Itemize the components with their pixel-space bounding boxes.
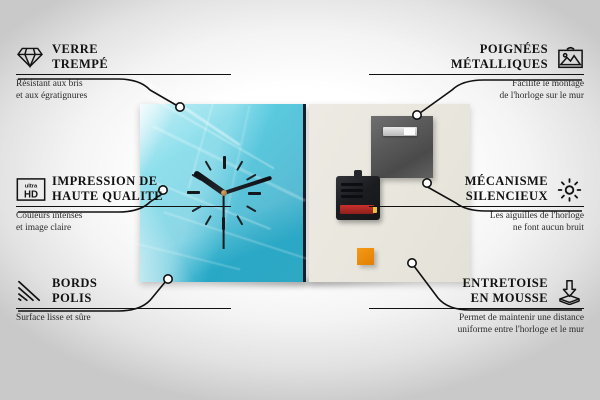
callout-desc: Permet de maintenir une distanceuniforme… [369,313,584,336]
divider [369,74,584,75]
callout-title: ENTRETOISEEN MOUSSE [462,276,548,305]
divider [16,74,231,75]
foam-spacer [357,248,374,265]
divider [369,308,584,309]
mechanism-vents [341,183,363,186]
callout-title: BORDSPOLIS [52,276,97,305]
divider [16,308,231,309]
diamond-icon [16,45,44,69]
callout-entretoise-en-mousse: ENTRETOISEEN MOUSSE Permet de maintenir … [369,276,584,337]
callout-desc: Couleurs intenseset image claire [16,211,231,234]
gear-icon [556,177,584,201]
callout-title: VERRETREMPÉ [52,42,108,71]
framed-picture-hook-icon [556,45,584,69]
divider [16,206,231,207]
callout-poignees-metalliques: POIGNÉESMÉTALLIQUES Facilite le montaged… [369,42,584,103]
callout-impression-haute-qualite: ultra HD IMPRESSION DEHAUTE QUALITÉ Coul… [16,174,231,235]
svg-text:HD: HD [24,189,38,200]
callout-bords-polis: BORDSPOLIS Surface lisse et sûre [16,276,231,325]
callout-title: MÉCANISMESILENCIEUX [465,174,548,203]
ultra-hd-icon: ultra HD [16,177,44,201]
callout-title: POIGNÉESMÉTALLIQUES [451,42,548,71]
polished-edge-icon [16,279,44,303]
arrow-down-pad-icon [556,279,584,303]
callout-desc: Facilite le montagede l'horloge sur le m… [369,79,584,102]
callout-desc: Surface lisse et sûre [16,313,231,325]
divider [369,206,584,207]
infographic-canvas: VERRETREMPÉ Résistant aux briset aux égr… [0,0,600,400]
hanger-plate [371,116,433,178]
callout-mecanisme-silencieux: MÉCANISMESILENCIEUX Les aiguilles de l'h… [369,174,584,235]
metal-handle-icon [383,127,417,136]
callout-desc: Résistant aux briset aux égratignures [16,79,231,102]
callout-verre-trempe: VERRETREMPÉ Résistant aux briset aux égr… [16,42,231,103]
mechanism-shaft [354,170,362,178]
callout-desc: Les aiguilles de l'horlogene font aucun … [369,211,584,234]
callout-title: IMPRESSION DEHAUTE QUALITÉ [52,174,163,203]
